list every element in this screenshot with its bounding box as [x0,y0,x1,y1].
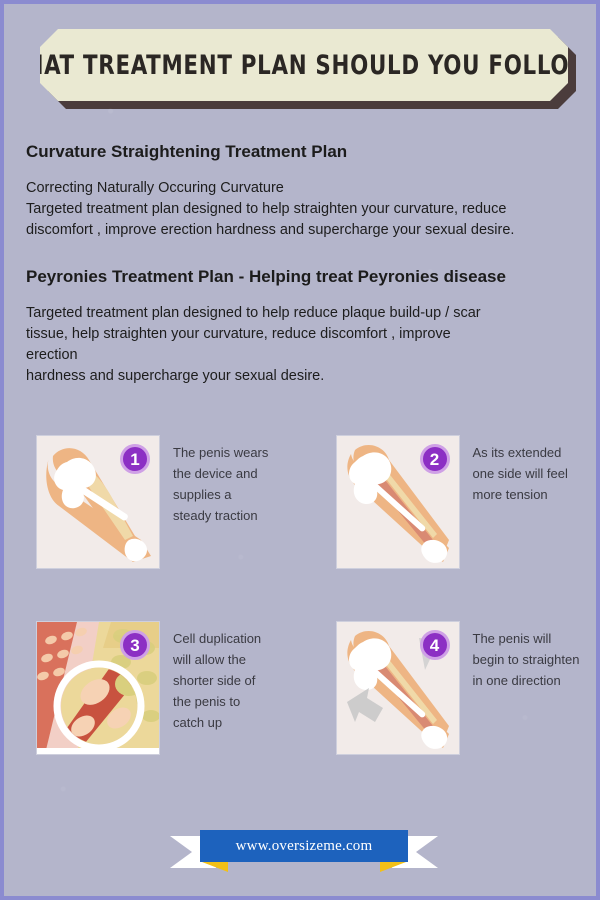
step-badge: 2 [420,444,450,474]
step-text-line: the device and [173,463,268,484]
step-badge: 1 [120,444,150,474]
step-text-line: shorter side of [173,670,261,691]
ribbon-body[interactable]: www.oversizeme.com [200,830,408,862]
section-body-line: tissue, help straighten your curvature, … [26,324,582,345]
website-url[interactable]: www.oversizeme.com [236,838,373,855]
section-body-line: discomfort , improve erection hardness a… [26,220,582,241]
step-text-line: will allow the [173,649,261,670]
step-text-line: one side will feel [473,463,568,484]
step-text-line: more tension [473,484,568,505]
step-text-line: begin to straighten [473,649,580,670]
step-text-line: supplies a [173,484,268,505]
section-body-line: erection [26,345,582,366]
step-text-line: Cell duplication [173,628,261,649]
step-2-text: As its extended one side will feel more … [473,436,568,505]
section-heading: Peyronies Treatment Plan - Helping treat… [26,267,582,287]
steps-row-top: 1 The penis wears the device and supplie… [4,436,600,622]
section-heading: Curvature Straightening Treatment Plan [26,142,582,162]
step-badge: 3 [120,630,150,660]
section-body-line: hardness and supercharge your sexual des… [26,366,582,387]
section-peyronies-plan: Peyronies Treatment Plan - Helping treat… [26,267,582,387]
step-1-illustration: 1 [37,436,159,568]
step-text-line: in one direction [473,670,580,691]
step-card-1: 1 The penis wears the device and supplie… [4,436,305,622]
step-badge: 4 [420,630,450,660]
step-1-text: The penis wears the device and supplies … [173,436,268,526]
step-text-line: catch up [173,712,261,733]
section-body: Targeted treatment plan designed to help… [26,303,582,387]
step-card-2: 2 As its extended one side will feel mor… [305,436,600,622]
steps-row-bottom: 3 Cell duplication will allow the shorte… [4,622,600,808]
footer-ribbon: www.oversizeme.com [4,830,600,876]
steps-grid: 1 The penis wears the device and supplie… [4,436,600,808]
section-curvature-straightening: Curvature Straightening Treatment Plan C… [26,142,582,241]
step-2-illustration: 2 [337,436,459,568]
section-body-line: Targeted treatment plan designed to help… [26,303,582,324]
step-card-4: 4 The penis will begin to straighten in … [305,622,600,808]
step-text-line: the penis to [173,691,261,712]
section-body-line: Correcting Naturally Occuring Curvature [26,178,582,199]
section-body: Correcting Naturally Occuring Curvature … [26,178,582,241]
step-3-illustration: 3 [37,622,159,754]
step-text-line: The penis will [473,628,580,649]
step-card-3: 3 Cell duplication will allow the shorte… [4,622,305,808]
step-4-text: The penis will begin to straighten in on… [473,622,580,691]
step-text-line: As its extended [473,442,568,463]
step-text-line: The penis wears [173,442,268,463]
step-text-line: steady traction [173,505,268,526]
page-title: What treatment plan should you follow? [1,50,600,81]
step-3-text: Cell duplication will allow the shorter … [173,622,261,733]
header-banner: What treatment plan should you follow? [40,29,568,101]
section-body-line: Targeted treatment plan designed to help… [26,199,582,220]
header-banner-body: What treatment plan should you follow? [40,29,568,101]
infographic-page: What treatment plan should you follow? C… [0,0,600,900]
step-4-illustration: 4 [337,622,459,754]
